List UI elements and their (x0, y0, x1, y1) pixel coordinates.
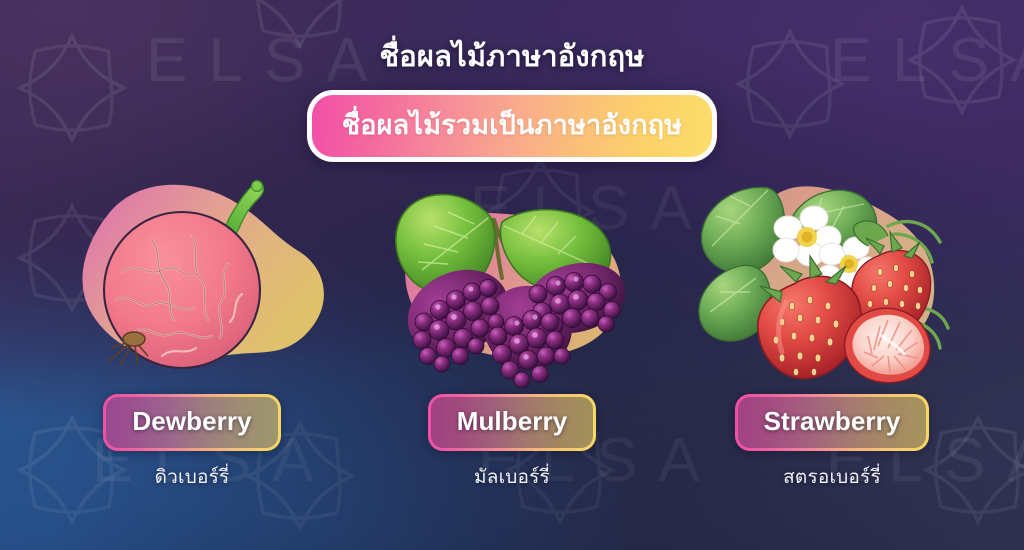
dewberry-english-label: Dewberry (132, 406, 251, 437)
strawberry-label-pill[interactable]: Strawberry (735, 394, 930, 451)
fruit-card-row: Dewberry ดิวเบอร์รี่ (0, 160, 1024, 500)
strawberry-fruit-icon (682, 160, 982, 388)
page-title: ชื่อผลไม้ภาษาอังกฤษ (0, 0, 1024, 79)
fruit-card-dewberry[interactable]: Dewberry ดิวเบอร์รี่ (32, 160, 352, 492)
mulberry-thai-label: มัลเบอร์รี่ (474, 462, 550, 492)
mulberry-label-inner: Mulberry (431, 397, 594, 448)
headline-banner-text: ชื่อผลไม้รวมเป็นภาษาอังกฤษ (342, 103, 683, 146)
dewberry-fruit-icon (42, 160, 342, 388)
header: ชื่อผลไม้ภาษาอังกฤษ ชื่อผลไม้รวมเป็นภาษา… (0, 0, 1024, 162)
headline-banner-gradient: ชื่อผลไม้รวมเป็นภาษาอังกฤษ (312, 95, 713, 157)
mulberry-fruit-icon (362, 160, 662, 388)
fruit-card-mulberry[interactable]: Mulberry มัลเบอร์รี่ (352, 160, 672, 492)
dewberry-thai-label: ดิวเบอร์รี่ (155, 462, 230, 492)
poster-canvas: ELSA ELSA ELSA ELSA ELSA ELSA ชื่อผลไม้ภ… (0, 0, 1024, 550)
mulberry-english-label: Mulberry (457, 406, 568, 437)
headline-banner: ชื่อผลไม้รวมเป็นภาษาอังกฤษ (307, 90, 718, 162)
mulberry-label-pill[interactable]: Mulberry (428, 394, 597, 451)
dewberry-label-pill[interactable]: Dewberry (103, 394, 280, 451)
dewberry-label-inner: Dewberry (106, 397, 277, 448)
fruit-card-strawberry[interactable]: Strawberry สตรอเบอร์รี่ (672, 160, 992, 492)
strawberry-english-label: Strawberry (764, 406, 901, 437)
strawberry-label-inner: Strawberry (738, 397, 927, 448)
strawberry-thai-label: สตรอเบอร์รี่ (783, 462, 881, 492)
